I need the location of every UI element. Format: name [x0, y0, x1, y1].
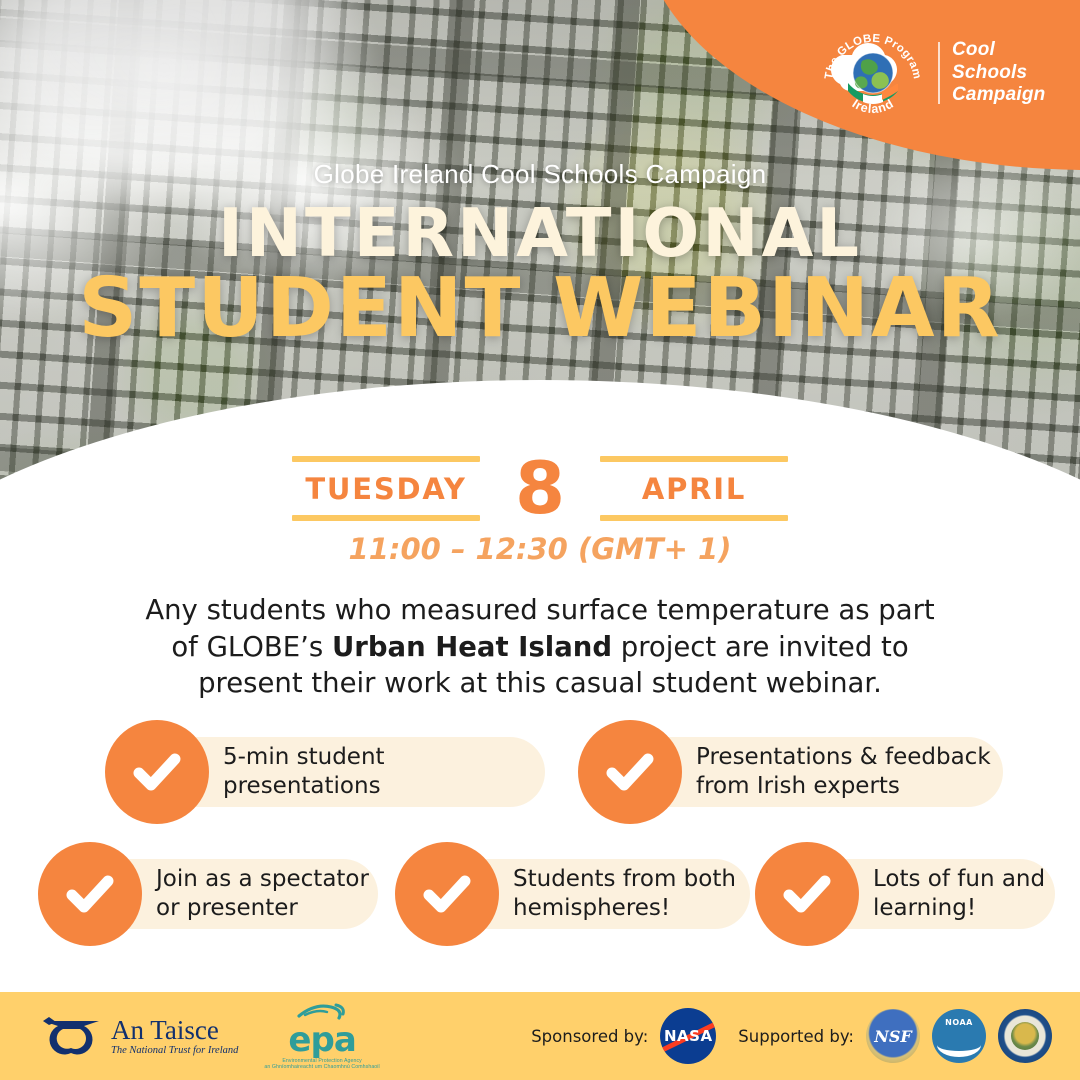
- feature-item: Students from both hemispheres!: [395, 840, 750, 948]
- nsf-logo-icon: NSF: [866, 1009, 920, 1063]
- epa-swirl-icon: [291, 1002, 353, 1022]
- feature-label: Lots of fun and learning!: [859, 865, 1045, 923]
- noaa-wordmark: NOAA: [945, 1018, 973, 1027]
- epa-wordmark: epa: [264, 1023, 379, 1057]
- an-taisce-text: An Taisce The National Trust for Ireland: [111, 1016, 238, 1055]
- check-icon: [395, 842, 499, 946]
- feature-label: 5-min student presentations: [209, 743, 545, 801]
- an-taisce-logo: An Taisce The National Trust for Ireland: [40, 1015, 238, 1057]
- state-seal-inner: [1011, 1022, 1039, 1050]
- feature-label: Presentations & feedback from Irish expe…: [682, 743, 991, 801]
- footer-funders: Sponsored by: NASA Supported by: NSF NOA…: [531, 1008, 1080, 1064]
- sponsored-by-label: Sponsored by:: [531, 1027, 648, 1046]
- sponsor-footer: An Taisce The National Trust for Ireland…: [0, 992, 1080, 1080]
- feature-item: Join as a spectator or presenter: [38, 840, 378, 948]
- check-icon: [105, 720, 209, 824]
- feature-label: Students from both hemispheres!: [499, 865, 736, 923]
- us-state-department-seal-icon: [998, 1009, 1052, 1063]
- an-taisce-name: An Taisce: [111, 1016, 238, 1044]
- nsf-wordmark: NSF: [874, 1027, 912, 1046]
- an-taisce-mark-icon: [40, 1015, 102, 1057]
- nasa-wordmark: NASA: [664, 1027, 713, 1045]
- feature-item: Lots of fun and learning!: [755, 840, 1055, 948]
- check-icon: [578, 720, 682, 824]
- nasa-logo-icon: NASA: [660, 1008, 716, 1064]
- feature-label: Join as a spectator or presenter: [142, 865, 369, 923]
- an-taisce-tagline: The National Trust for Ireland: [111, 1045, 238, 1056]
- feature-list: 5-min student presentations Presentation…: [0, 0, 1080, 1080]
- webinar-poster: The GLOBE Program Ireland Cool Schools C…: [0, 0, 1080, 1080]
- feature-item: 5-min student presentations: [105, 718, 545, 826]
- check-icon: [38, 842, 142, 946]
- check-icon: [755, 842, 859, 946]
- feature-item: Presentations & feedback from Irish expe…: [578, 718, 1003, 826]
- noaa-logo-icon: NOAA: [932, 1009, 986, 1063]
- footer-partner-logos: An Taisce The National Trust for Ireland…: [0, 1002, 380, 1069]
- epa-tagline: Environmental Protection Agency an Ghnío…: [264, 1059, 379, 1069]
- epa-logo: epa Environmental Protection Agency an G…: [264, 1002, 379, 1069]
- supported-by-label: Supported by:: [738, 1027, 854, 1046]
